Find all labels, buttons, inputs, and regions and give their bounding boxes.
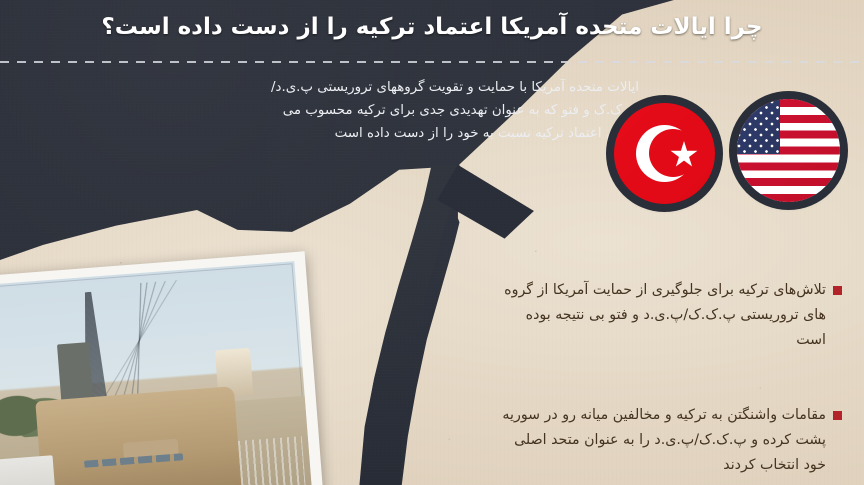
fence	[231, 436, 306, 485]
flag-gloss-overlay	[614, 103, 715, 204]
infographic-poster: چرا ایالات متحده آمریکا اعتماد ترکیه را …	[0, 0, 864, 485]
bullet-item: مقامات واشنگتن به ترکیه و مخالفین میانه …	[494, 403, 842, 478]
bullet-text: مقامات واشنگتن به ترکیه و مخالفین میانه …	[494, 403, 842, 478]
page-title: چرا ایالات متحده آمریکا اعتماد ترکیه را …	[0, 14, 864, 40]
flag-gloss-overlay	[737, 99, 840, 202]
bullet-text: تلاش‌های ترکیه برای جلوگیری از حمایت آمر…	[494, 278, 842, 353]
usa-flag-icon	[737, 99, 840, 202]
turkey-flag-icon	[614, 103, 715, 204]
title-divider	[0, 61, 864, 63]
square-bullet-icon	[833, 286, 842, 295]
square-bullet-icon	[833, 411, 842, 420]
bullet-item: تلاش‌های ترکیه برای جلوگیری از حمایت آمر…	[494, 278, 842, 353]
transformer-box	[57, 342, 94, 404]
photo-frame	[0, 251, 326, 485]
intro-paragraph: ایالات متحده آمریکا با حمایت و تقویت گرو…	[249, 76, 639, 145]
photo-image-military-vehicle	[0, 261, 313, 485]
white-truck	[0, 455, 58, 485]
armored-vehicle	[35, 386, 241, 485]
